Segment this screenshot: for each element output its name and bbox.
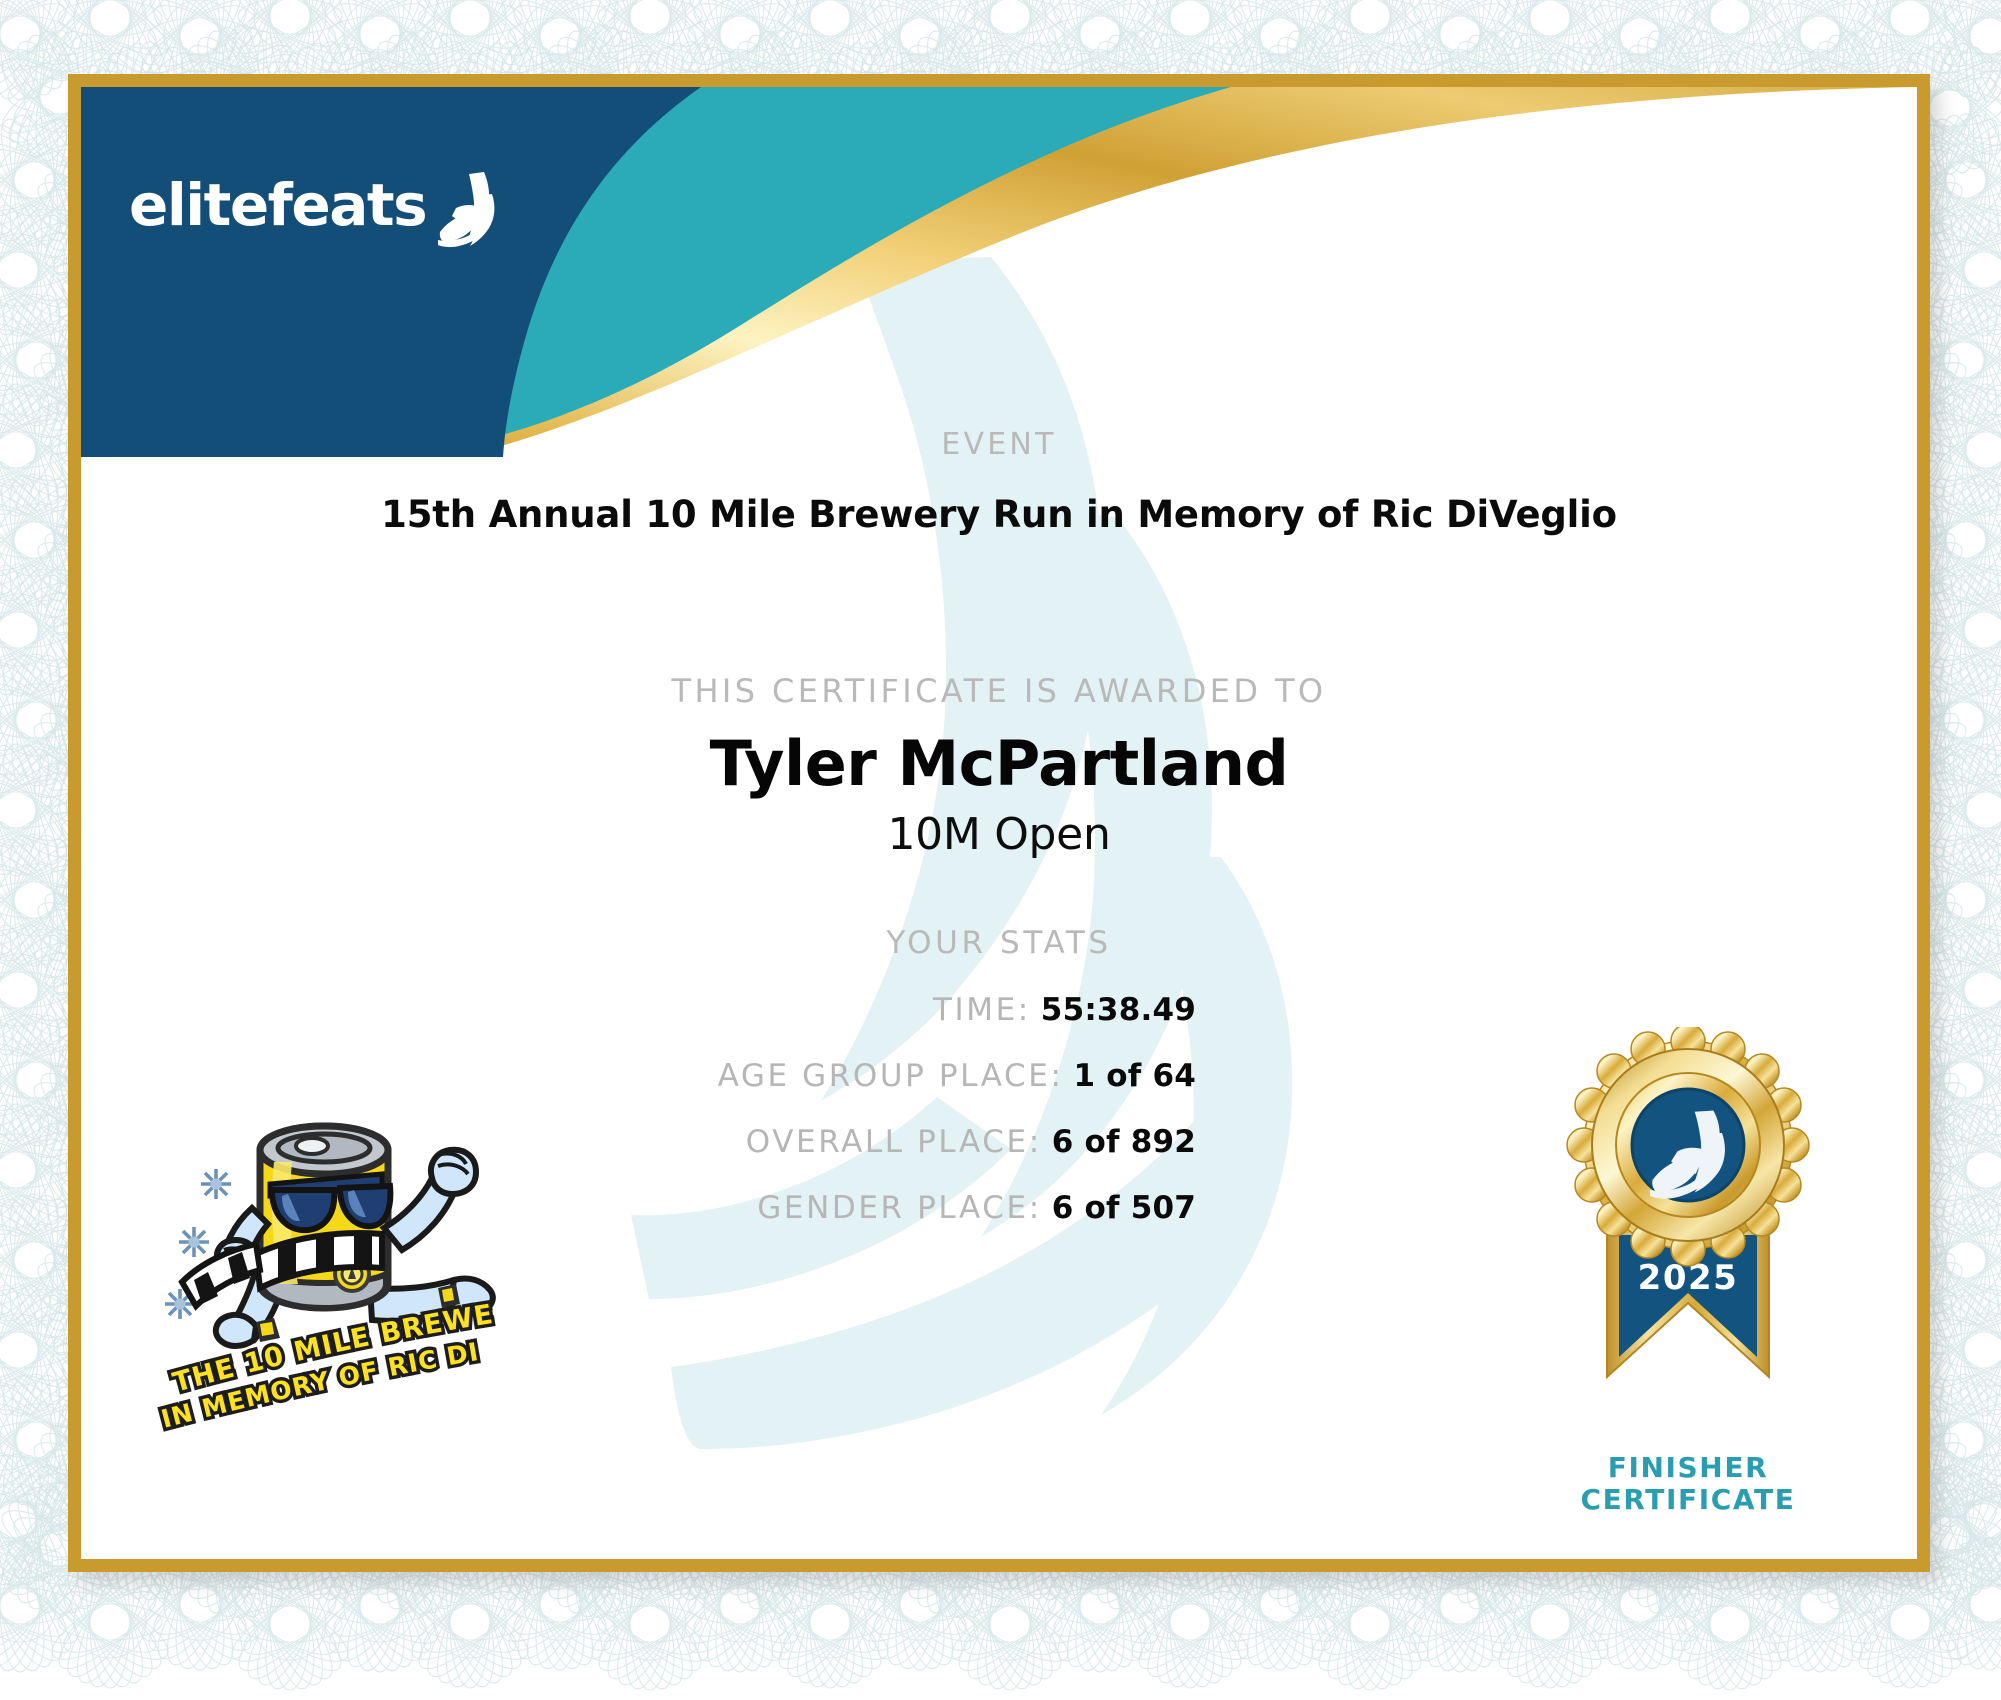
stat-key: GENDER PLACE: (757, 1190, 1041, 1226)
header-swoosh-banner (81, 87, 1917, 457)
recipient-name: Tyler McPartland (81, 727, 1917, 800)
stat-key: OVERALL PLACE: (746, 1124, 1042, 1160)
certificate-page: elitefeats EVENT 15th Annual 10 Mile Bre… (0, 0, 2001, 1700)
your-stats-label: YOUR STATS (81, 925, 1917, 961)
event-title: 15th Annual 10 Mile Brewery Run in Memor… (81, 493, 1917, 536)
stat-value: 6 of 892 (1052, 1124, 1196, 1160)
elitefeats-wordmark: elitefeats (129, 176, 426, 234)
mascot-right-arm (384, 1150, 476, 1250)
awarded-to-label: THIS CERTIFICATE IS AWARDED TO (81, 672, 1917, 710)
division-label: 10M Open (81, 809, 1917, 860)
event-label: EVENT (81, 427, 1917, 462)
stat-row-time: TIME: 55:38.49 (81, 992, 1196, 1058)
finisher-certificate-caption: FINISHER CERTIFICATE (1513, 1452, 1863, 1516)
stat-value: 1 of 64 (1074, 1058, 1196, 1094)
certificate-gold-frame: elitefeats EVENT 15th Annual 10 Mile Bre… (68, 74, 1930, 1572)
stat-key: TIME: (933, 992, 1031, 1028)
caption-line-2: CERTIFICATE (1513, 1484, 1863, 1516)
caption-line-1: FINISHER (1513, 1452, 1863, 1484)
elitefeats-logo: elitefeats (129, 159, 529, 251)
finisher-seal-ribbon: 2025 (1543, 1027, 1833, 1447)
stat-value: 55:38.49 (1041, 992, 1196, 1028)
winged-foot-icon (432, 168, 502, 248)
stat-key: AGE GROUP PLACE: (718, 1058, 1064, 1094)
seal-medallion (1567, 1027, 1809, 1266)
running-beer-can-mascot-logo: THE 10 MILE BREWERY RUN THE 10 MILE BREW… (156, 1092, 501, 1432)
stat-value: 6 of 507 (1052, 1190, 1196, 1226)
